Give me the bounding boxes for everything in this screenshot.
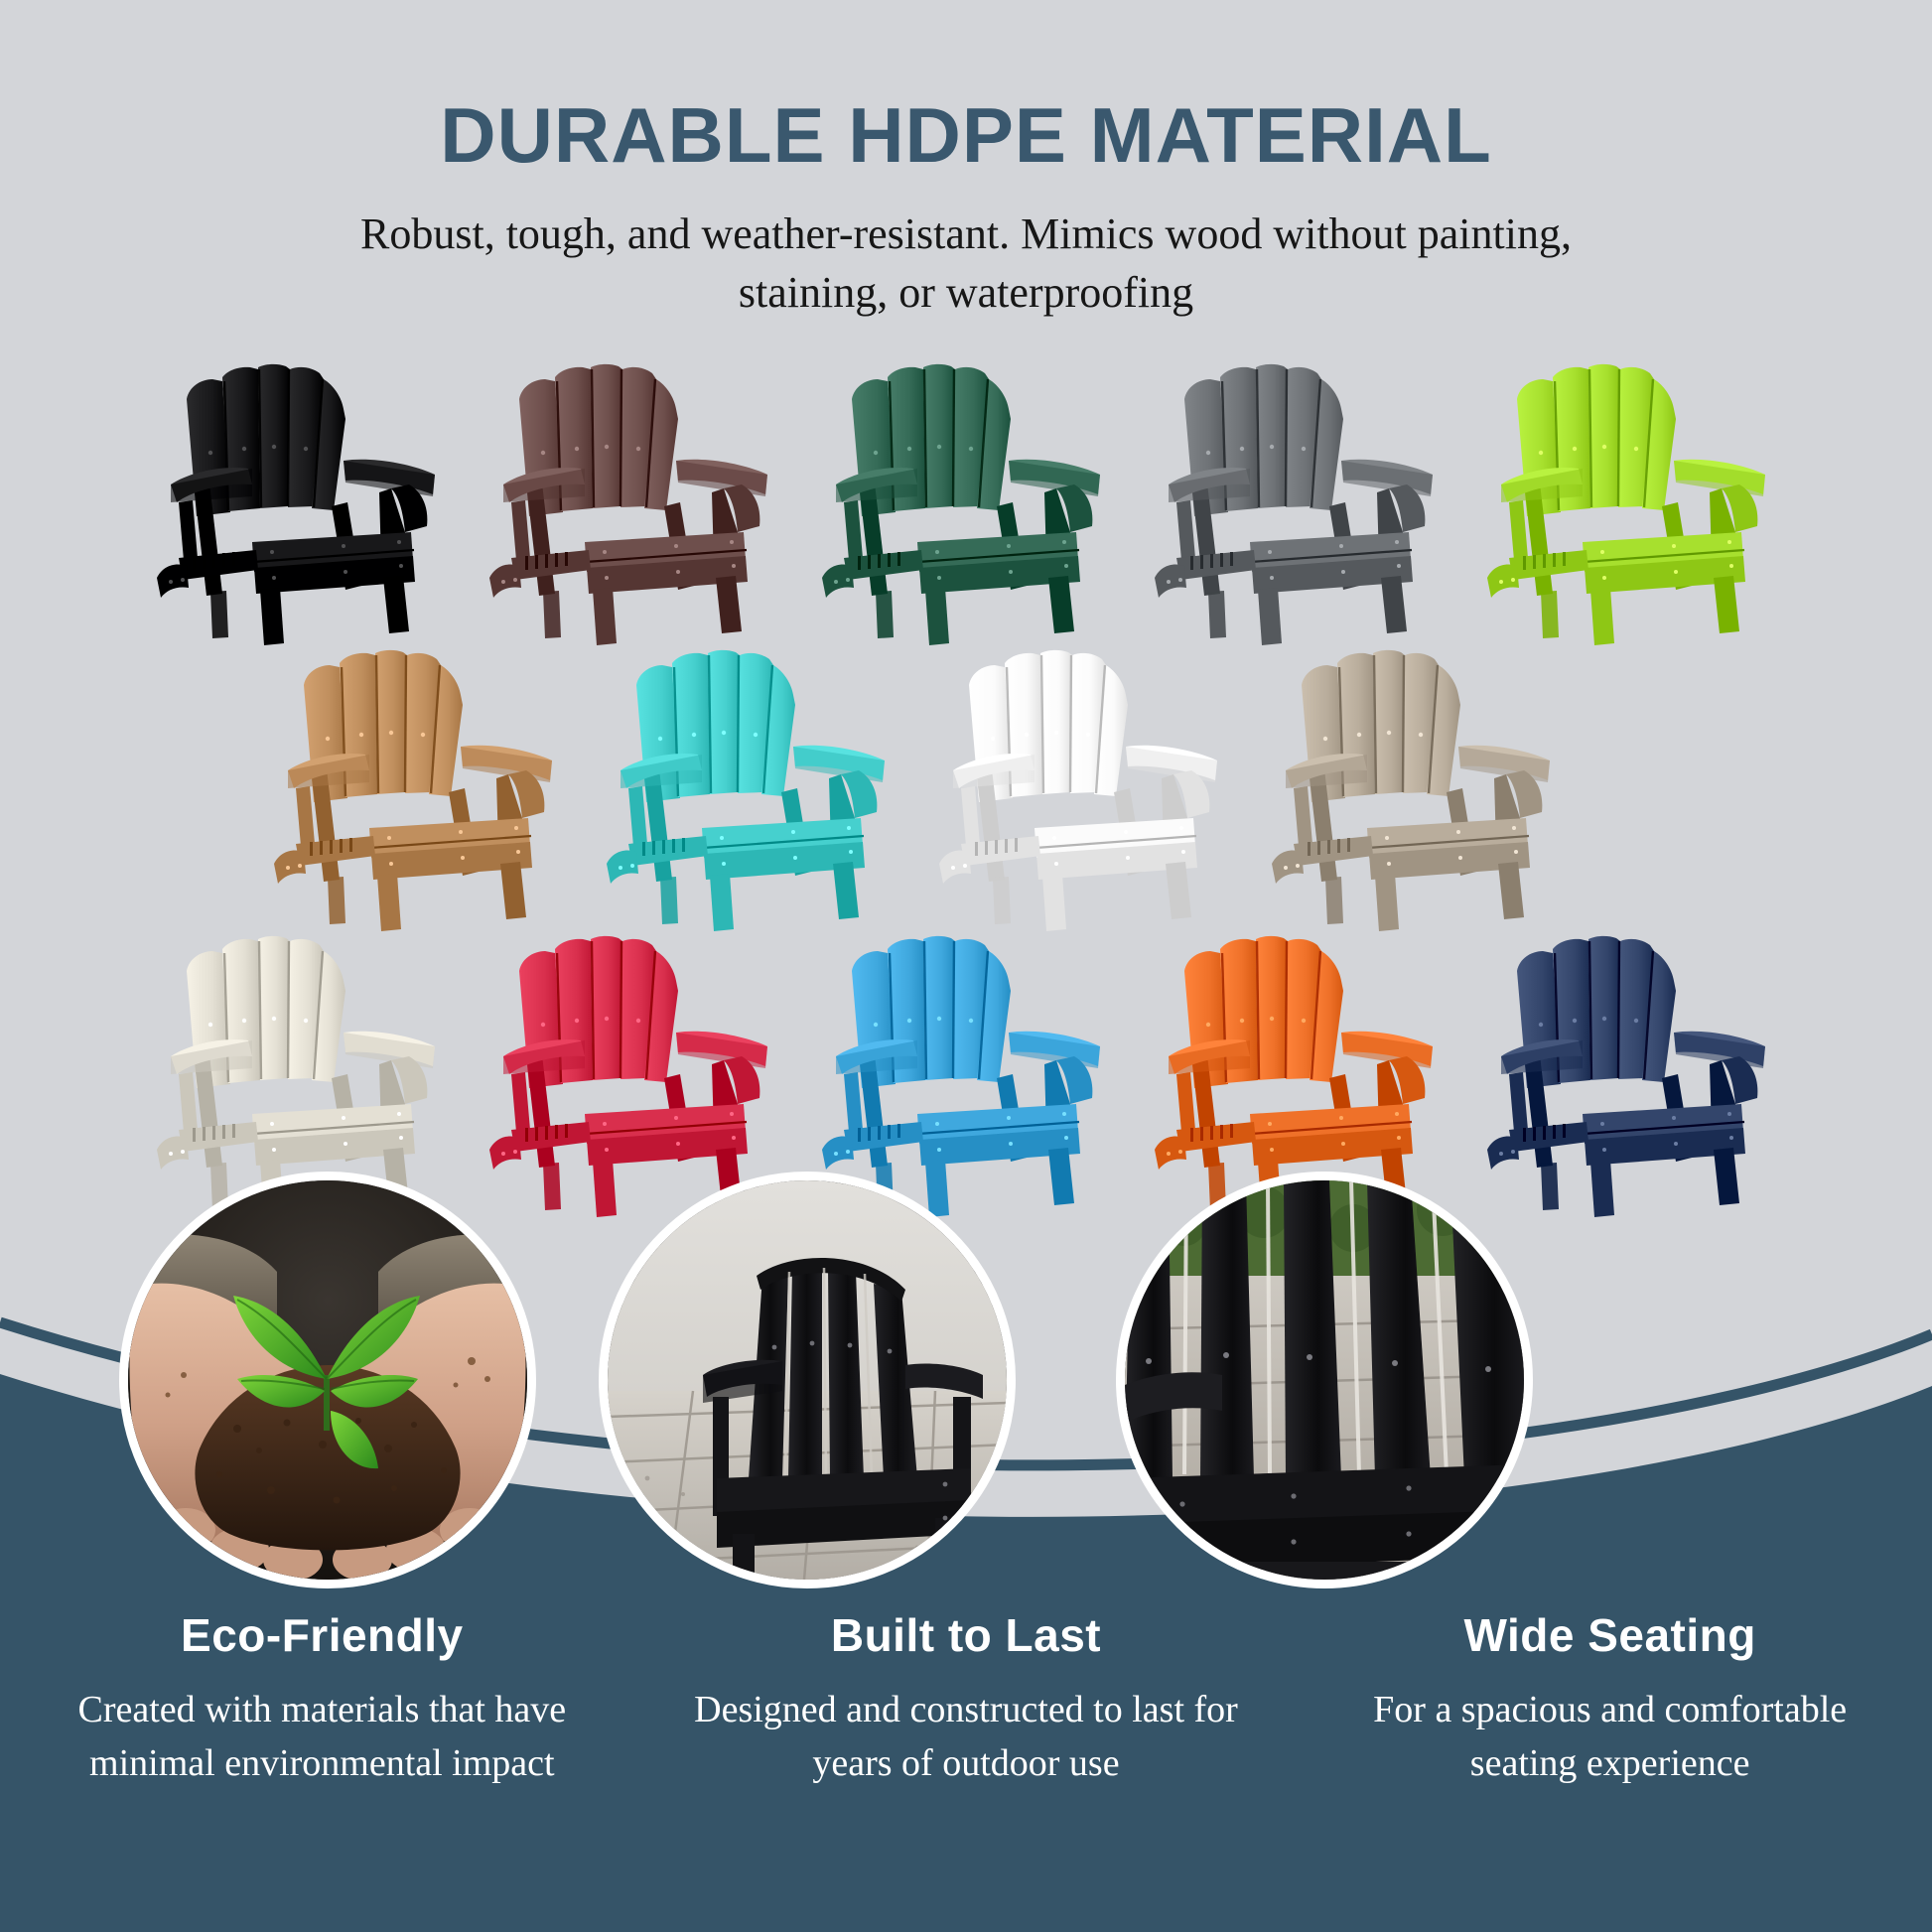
chair-gray (1147, 357, 1479, 645)
feature-description: Designed and constructed to last for yea… (672, 1684, 1261, 1791)
adirondack-chair-illustration (599, 643, 931, 931)
page-title: DURABLE HDPE MATERIAL (0, 95, 1932, 177)
chair-swatch[interactable] (1479, 357, 1812, 645)
chair-row-2 (0, 643, 1932, 931)
adirondack-chair-illustration (1264, 643, 1596, 931)
chair-color-grid (0, 357, 1932, 1251)
feature-title: Wide Seating (1315, 1608, 1904, 1662)
feature-description: Created with materials that have minimal… (28, 1684, 617, 1791)
chair-black (149, 357, 482, 645)
adirondack-chair-illustration (1147, 357, 1479, 645)
adirondack-chair-illustration (814, 357, 1147, 645)
chair-brown (482, 357, 814, 645)
black-chair-patio-image (608, 1180, 1007, 1580)
header-block: DURABLE HDPE MATERIAL Robust, tough, and… (0, 0, 1932, 323)
chair-swatch[interactable] (814, 357, 1147, 645)
feature-title: Built to Last (672, 1608, 1261, 1662)
chair-swatch[interactable] (931, 643, 1264, 931)
feature-wide-seating: Wide Seating For a spacious and comforta… (1288, 1608, 1932, 1791)
infographic-canvas: DURABLE HDPE MATERIAL Robust, tough, and… (0, 0, 1932, 1932)
feature-eco-friendly: Eco-Friendly Created with materials that… (0, 1608, 644, 1791)
chair-dark-green (814, 357, 1147, 645)
feature-caption-row: Eco-Friendly Created with materials that… (0, 1608, 1932, 1791)
chair-white (931, 643, 1264, 931)
chair-teak (266, 643, 599, 931)
adirondack-chair-illustration (149, 357, 482, 645)
chair-khaki (1264, 643, 1596, 931)
feature-description: For a spacious and comfortable seating e… (1315, 1684, 1904, 1791)
adirondack-chair-illustration (931, 643, 1264, 931)
chair-swatch[interactable] (149, 357, 482, 645)
hands-soil-seedling-image (128, 1180, 527, 1580)
chair-swatch[interactable] (599, 643, 931, 931)
chair-swatch[interactable] (1264, 643, 1596, 931)
adirondack-chair-illustration (1479, 357, 1812, 645)
photo-wide-seating[interactable] (1116, 1172, 1533, 1588)
page-subtitle: Robust, tough, and weather-resistant. Mi… (0, 205, 1932, 323)
chair-row-1 (0, 357, 1932, 645)
feature-title: Eco-Friendly (28, 1608, 617, 1662)
adirondack-chair-illustration (266, 643, 599, 931)
chair-turquoise (599, 643, 931, 931)
chair-slats-closeup-image (1125, 1180, 1524, 1580)
chair-lime-green (1479, 357, 1812, 645)
chair-swatch[interactable] (482, 357, 814, 645)
feature-photo-row (0, 1172, 1932, 1588)
chair-swatch[interactable] (1147, 357, 1479, 645)
photo-built-to-last[interactable] (599, 1172, 1016, 1588)
adirondack-chair-illustration (482, 357, 814, 645)
photo-eco-friendly[interactable] (119, 1172, 536, 1588)
feature-built-to-last: Built to Last Designed and constructed t… (644, 1608, 1289, 1791)
chair-swatch[interactable] (266, 643, 599, 931)
